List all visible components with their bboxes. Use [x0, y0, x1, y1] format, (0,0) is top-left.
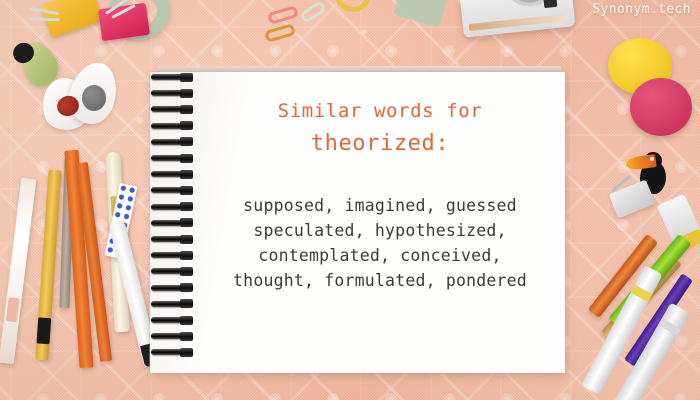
- spiral-coil: [151, 333, 191, 339]
- pink-binder-clip-icon: [98, 3, 150, 41]
- spiral-coil: [151, 155, 191, 161]
- pink-macaron-icon: [630, 78, 692, 136]
- spiral-coil: [151, 236, 191, 242]
- synonym-line: speculated, hypothesized,: [253, 218, 506, 243]
- spiral-coil: [151, 171, 191, 177]
- camera-grip-strip: [469, 14, 565, 31]
- spiral-coil: [151, 90, 191, 96]
- spiral-coil: [151, 220, 191, 226]
- spiral-coil: [151, 317, 191, 323]
- spiral-coil: [151, 204, 191, 210]
- synonym-line: contemplated, conceived,: [258, 243, 501, 268]
- synonym-line: thought, formulated, pondered: [233, 268, 527, 293]
- toucan-eye: [650, 157, 654, 161]
- spiral-coil: [151, 301, 191, 307]
- synonym-list: supposed, imagined, guessedspeculated, h…: [233, 193, 527, 293]
- page-headword: theorized:: [311, 131, 449, 156]
- spiral-coil: [151, 285, 191, 291]
- site-watermark: Synonym.tech: [592, 2, 691, 17]
- spiral-coil: [151, 106, 191, 112]
- desk-scene: Similar words for theorized: supposed, i…: [0, 0, 700, 400]
- spiral-binding: [151, 74, 195, 366]
- spiral-coil: [151, 252, 191, 258]
- egg-yolk-gray-icon: [82, 85, 106, 111]
- synonym-line: supposed, imagined, guessed: [243, 193, 517, 218]
- spiral-coil: [151, 123, 191, 129]
- spiral-coil: [151, 187, 191, 193]
- spiral-coil: [151, 349, 191, 355]
- spiral-coil: [151, 268, 191, 274]
- notepad-content: Similar words for theorized: supposed, i…: [195, 72, 565, 373]
- spiral-coil: [151, 74, 191, 80]
- page-title-prefix: Similar words for: [278, 100, 483, 122]
- camera-button-icon: [543, 0, 557, 8]
- spiral-coil: [151, 139, 191, 145]
